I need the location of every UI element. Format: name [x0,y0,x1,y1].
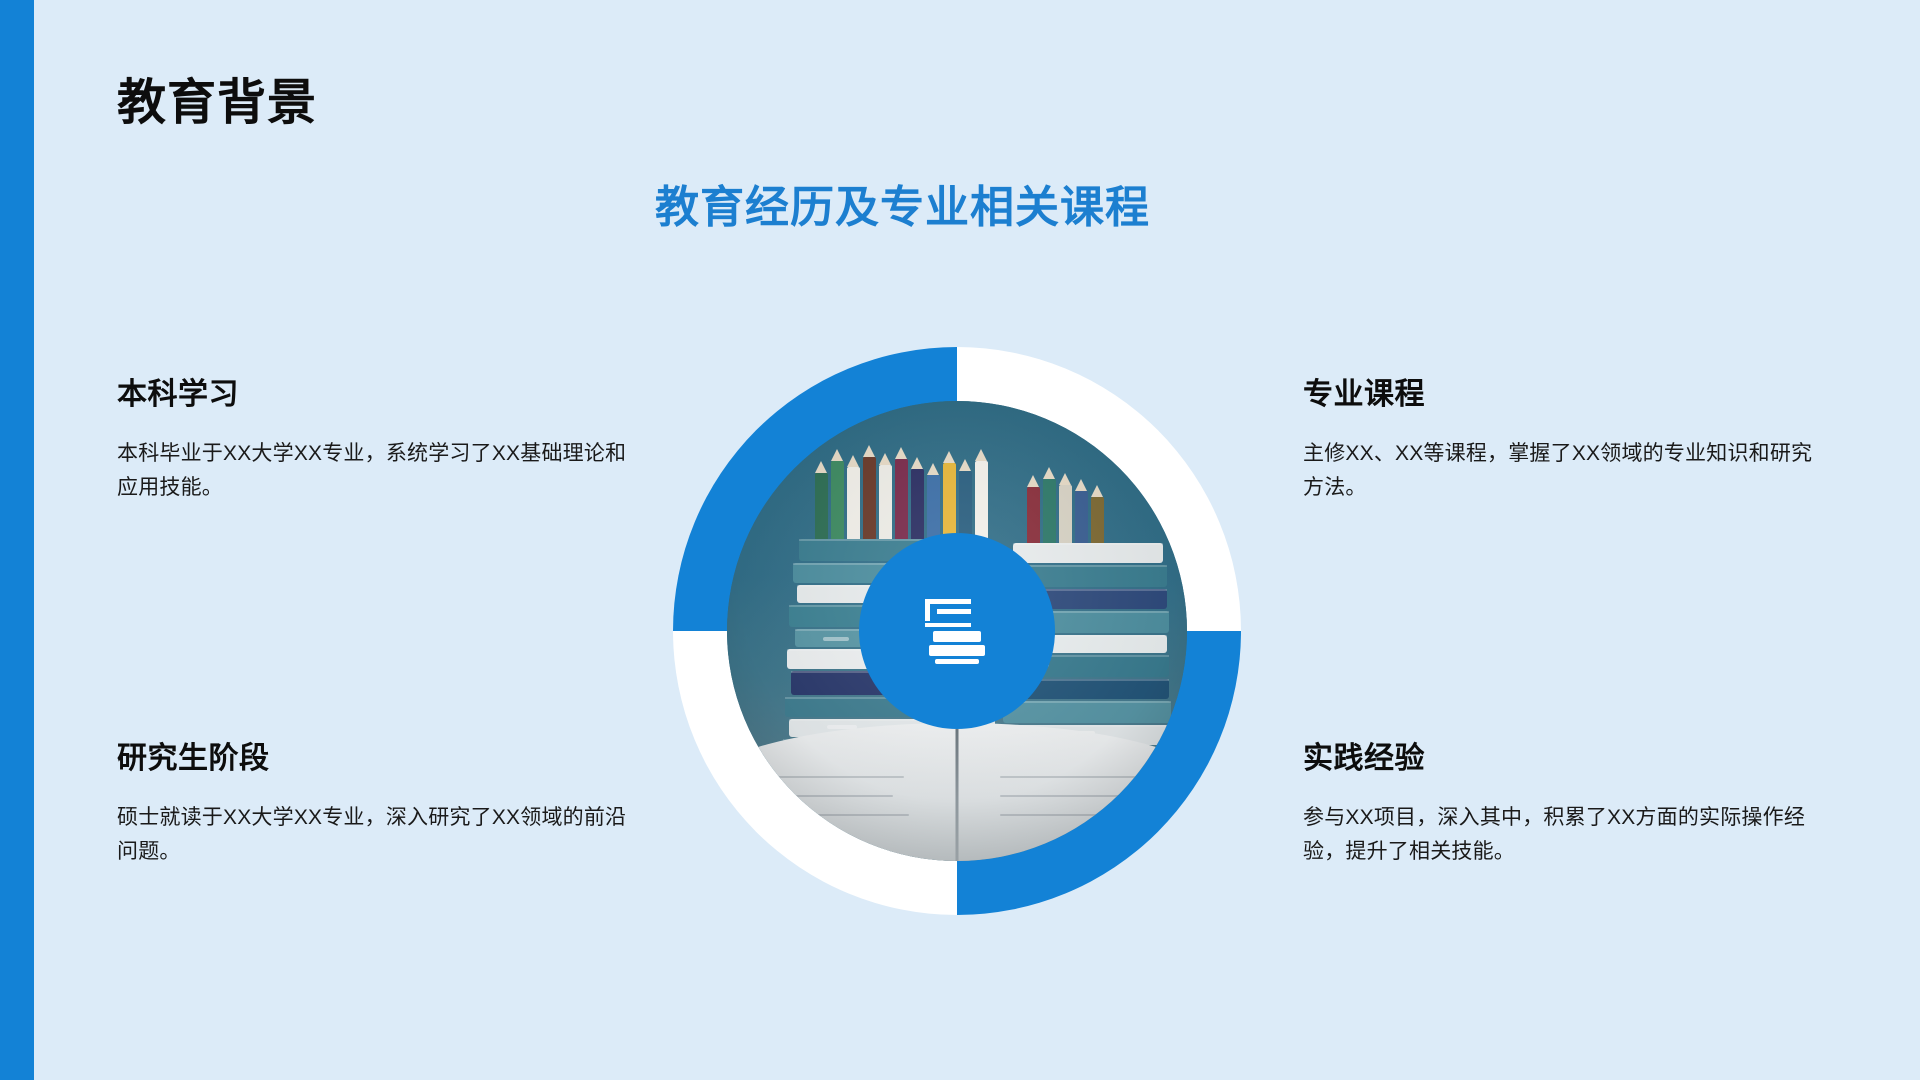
info-block-graduate: 研究生阶段 硕士就读于XX大学XX专业，深入研究了XX领域的前沿问题。 [117,742,637,869]
section-subtitle: 教育经历及专业相关课程 [655,185,1150,231]
center-badge [859,533,1055,729]
block-body: 主修XX、XX等课程，掌握了XX领域的专业知识和研究方法。 [1303,437,1823,505]
page-title: 教育背景 [117,78,317,129]
slide-canvas: 教育背景 教育经历及专业相关课程 [0,0,1920,1080]
block-title: 实践经验 [1303,742,1823,775]
info-block-undergrad: 本科学习 本科毕业于XX大学XX专业，系统学习了XX基础理论和应用技能。 [117,378,637,505]
block-body: 硕士就读于XX大学XX专业，深入研究了XX领域的前沿问题。 [117,801,637,869]
block-title: 本科学习 [117,378,637,411]
block-body: 参与XX项目，深入其中，积累了XX方面的实际操作经验，提升了相关技能。 [1303,801,1823,869]
left-accent-bar [0,0,34,1080]
block-body: 本科毕业于XX大学XX专业，系统学习了XX基础理论和应用技能。 [117,437,637,505]
education-donut-diagram [673,347,1241,915]
block-title: 专业课程 [1303,378,1823,411]
info-block-practice: 实践经验 参与XX项目，深入其中，积累了XX方面的实际操作经验，提升了相关技能。 [1303,742,1823,869]
info-block-courses: 专业课程 主修XX、XX等课程，掌握了XX领域的专业知识和研究方法。 [1303,378,1823,505]
block-title: 研究生阶段 [117,742,637,775]
books-stack-icon [919,597,995,665]
